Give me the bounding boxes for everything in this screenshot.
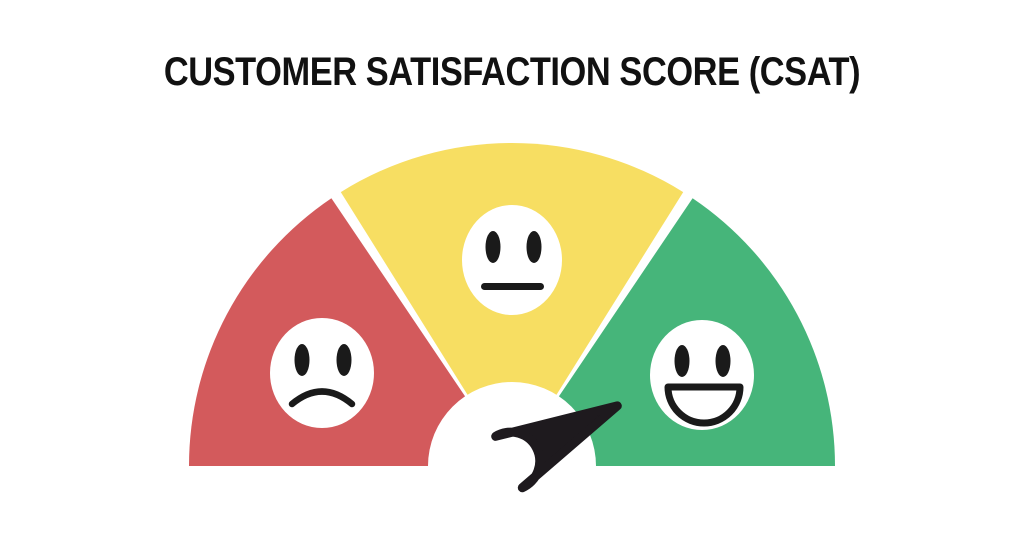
gauge-baseline-mask <box>0 466 1024 533</box>
sad-face-icon <box>270 318 374 428</box>
needle-pivot-hole <box>496 449 523 476</box>
neutral-face-icon <box>462 205 562 315</box>
csat-gauge-infographic: CUSTOMER SATISFACTION SCORE (CSAT) <box>0 0 1024 533</box>
happy-face-icon <box>650 320 754 430</box>
gauge-chart <box>0 0 1024 533</box>
